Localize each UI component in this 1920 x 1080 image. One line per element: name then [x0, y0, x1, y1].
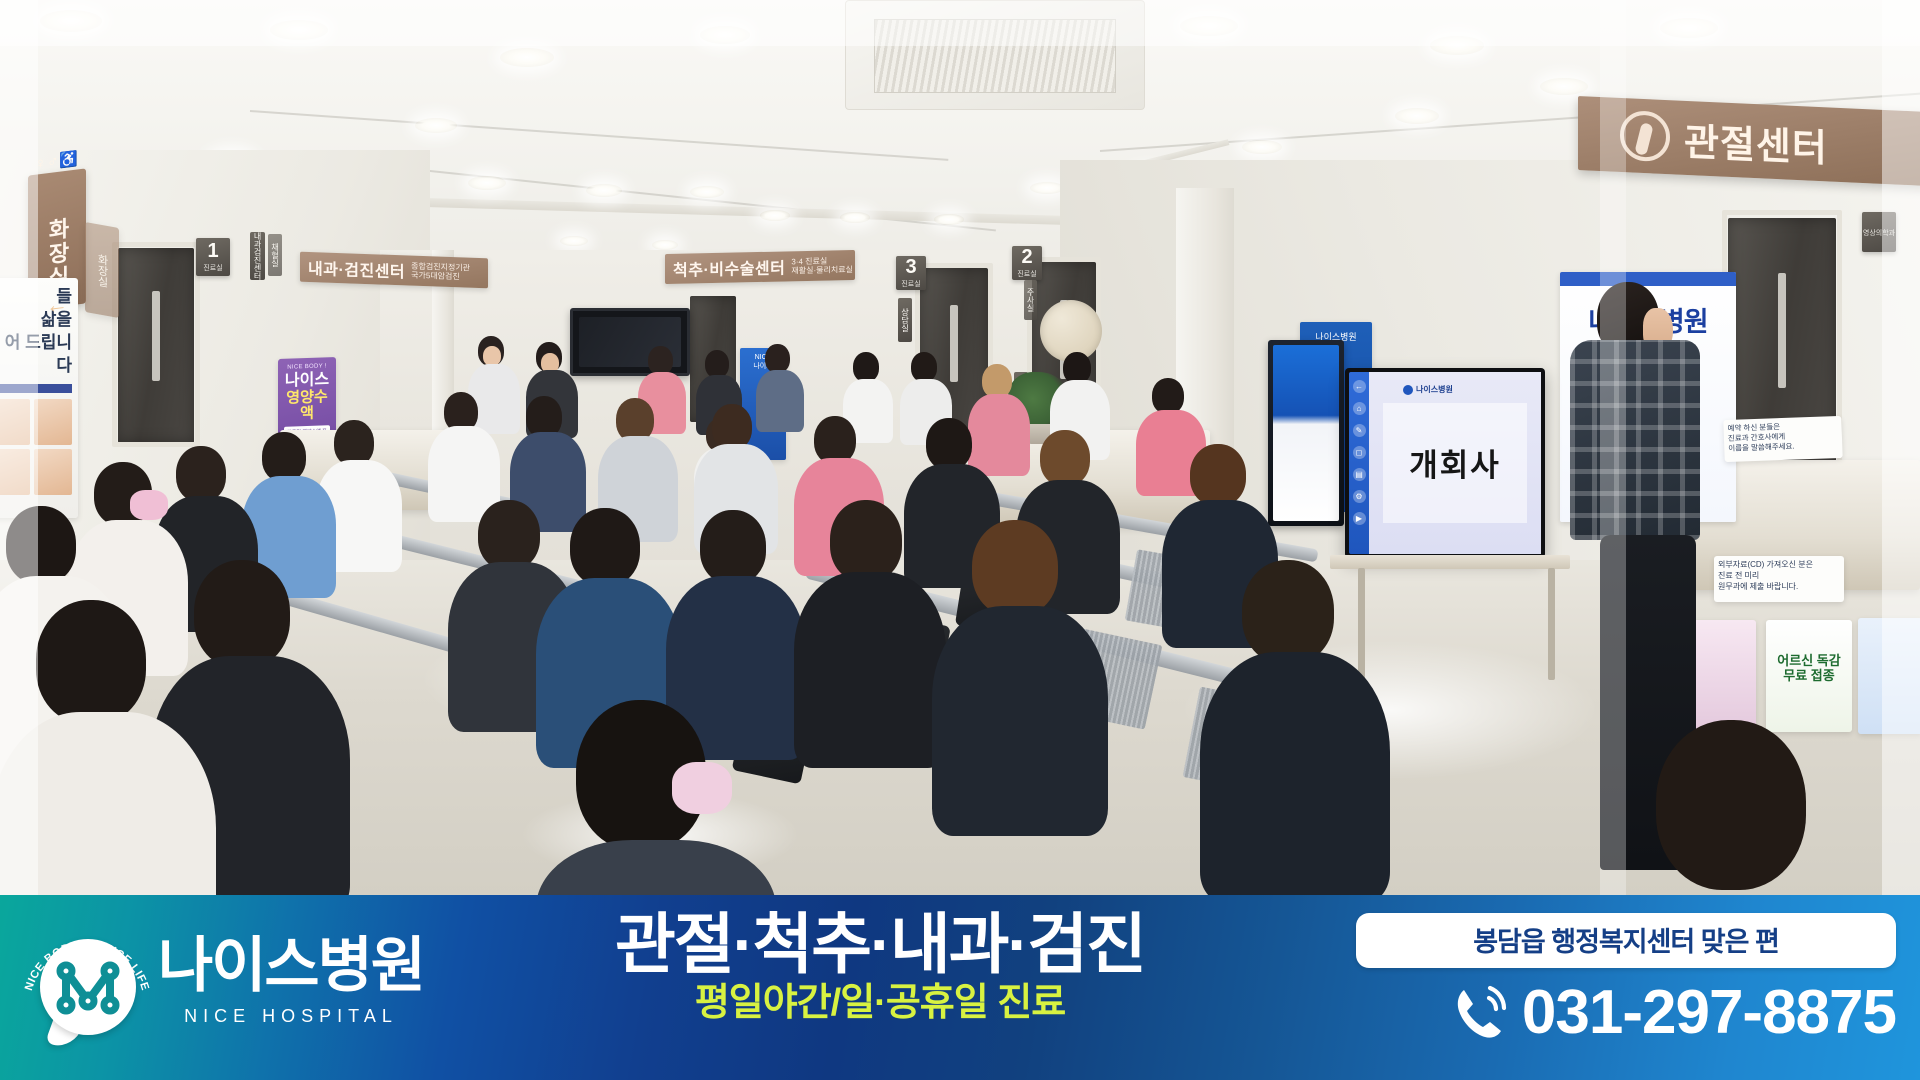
- sign-internal-medicine-title: 내과·검진센터: [308, 255, 405, 282]
- hospital-lobby-photo: ♀♂♿ 화장실 ← 화장실 내과·검진센터 종합검진지정기관 국가5대암검진 척…: [0, 0, 1920, 895]
- room-side-3: 상담실: [898, 298, 912, 342]
- room-side-1: 내과검진센터: [250, 232, 265, 280]
- location-badge: 봉담읍 행정복지센터 맞은 편: [1356, 913, 1896, 968]
- ceiling-ac-vent: [845, 0, 1145, 110]
- play-icon[interactable]: ▶: [1353, 512, 1366, 525]
- presentation-table: [1330, 555, 1570, 569]
- room-plate-xray: 영상의학과: [1862, 212, 1896, 252]
- presentation-slide-title: 개회사: [1383, 403, 1527, 523]
- sign-spine-center-sub2: 재활실·물리치료실: [791, 265, 853, 275]
- home-icon[interactable]: ⌂: [1353, 402, 1366, 415]
- brand-name-ko: 나이스병원: [158, 936, 424, 996]
- room-plate-1: 1 진료실: [196, 238, 230, 276]
- hospital-promo-banner: NICE BODY for NICE LIFE: [0, 895, 1920, 1080]
- sign-lab: 채혈실: [268, 234, 282, 276]
- notice-cd-line1: 외부자료(CD) 가져오신 분은: [1718, 560, 1840, 571]
- nice-n-node-icon: [56, 955, 120, 1017]
- info-kiosk: [1268, 340, 1344, 526]
- notice-cd-line3: 원무과에 제출 바랍니다.: [1718, 582, 1840, 593]
- room-plate-3: 3 진료실: [896, 256, 926, 290]
- presentation-screen: ← ⌂ ✎ ◻ ▤ ⚙ ▶ 나이스병원 개회사: [1345, 368, 1545, 558]
- nice-logo-icon: [1403, 385, 1413, 395]
- banner-info-block: 봉담읍 행정복지센터 맞은 편 031-297-8875: [1356, 913, 1896, 1044]
- poster-flu-vaccine: 어르신 독감 무료 접종: [1766, 620, 1852, 732]
- notice-cd: 외부자료(CD) 가져오신 분은 진료 전 미리 원무과에 제출 바랍니다.: [1714, 556, 1844, 602]
- layer-icon[interactable]: ▤: [1353, 468, 1366, 481]
- poster-root: ♀♂♿ 화장실 ← 화장실 내과·검진센터 종합검진지정기관 국가5대암검진 척…: [0, 0, 1920, 1080]
- sign-spine-center-title: 척추·비수술센터: [673, 254, 785, 280]
- phone-number: 031-297-8875: [1522, 982, 1896, 1044]
- phone-row[interactable]: 031-297-8875: [1356, 982, 1896, 1044]
- poster-left-line3: 어 드립니다: [0, 332, 72, 378]
- poster-flu-line2: 무료 접종: [1766, 669, 1852, 684]
- joint-icon: [1620, 110, 1670, 162]
- presentation-slide-logo: 나이스병원: [1403, 384, 1453, 395]
- presentation-logo-text: 나이스병원: [1416, 384, 1453, 395]
- pen-icon[interactable]: ✎: [1353, 424, 1366, 437]
- brand-name-en: NICE HOSPITAL: [158, 1006, 424, 1027]
- headline-line-1: 관절·척추·내과·검진: [530, 911, 1230, 978]
- notice-reservation-line3: 이름을 말씀해주세요.: [1728, 440, 1838, 454]
- poster-right-blue: [1858, 618, 1920, 734]
- notice-cd-line2: 진료 전 미리: [1718, 571, 1840, 582]
- poster-flu-line1: 어르신 독감: [1766, 654, 1852, 669]
- room-plate-xray-label: 영상의학과: [1863, 228, 1895, 238]
- sign-joint-center-title: 관절센터: [1684, 110, 1828, 172]
- banner-nutrition-title2: 영양수액: [282, 389, 332, 422]
- sign-injection: 주사실: [1024, 280, 1037, 320]
- notice-reservation: 예약 하신 분들은 진료과 간호사에게 이름을 말씀해주세요.: [1723, 416, 1842, 462]
- presentation-slide: 나이스병원 개회사: [1369, 372, 1541, 554]
- sign-spine-center: 척추·비수술센터 3·4 진료실 재활실·물리치료실: [665, 250, 855, 284]
- room-plate-2: 2 진료실: [1012, 246, 1042, 280]
- presentation-sidebar[interactable]: ← ⌂ ✎ ◻ ▤ ⚙ ▶: [1349, 372, 1369, 554]
- banner-nutrition-eyebrow: NICE BODY !: [282, 363, 332, 371]
- settings-icon[interactable]: ⚙: [1353, 490, 1366, 503]
- brand-block: NICE BODY for NICE LIFE: [22, 907, 424, 1055]
- sign-restroom-secondary: 화장실: [85, 222, 119, 318]
- presenter-plaid-shirt: [1570, 340, 1700, 540]
- headline-line-2: 평일야간/일·공휴일 진료: [530, 984, 1230, 1024]
- back-icon[interactable]: ←: [1353, 380, 1366, 393]
- banner-headline: 관절·척추·내과·검진 평일야간/일·공휴일 진료: [530, 911, 1230, 1024]
- brand-logo: NICE BODY for NICE LIFE: [22, 907, 152, 1055]
- shape-icon[interactable]: ◻: [1353, 446, 1366, 459]
- phone-ringing-icon: [1452, 984, 1508, 1042]
